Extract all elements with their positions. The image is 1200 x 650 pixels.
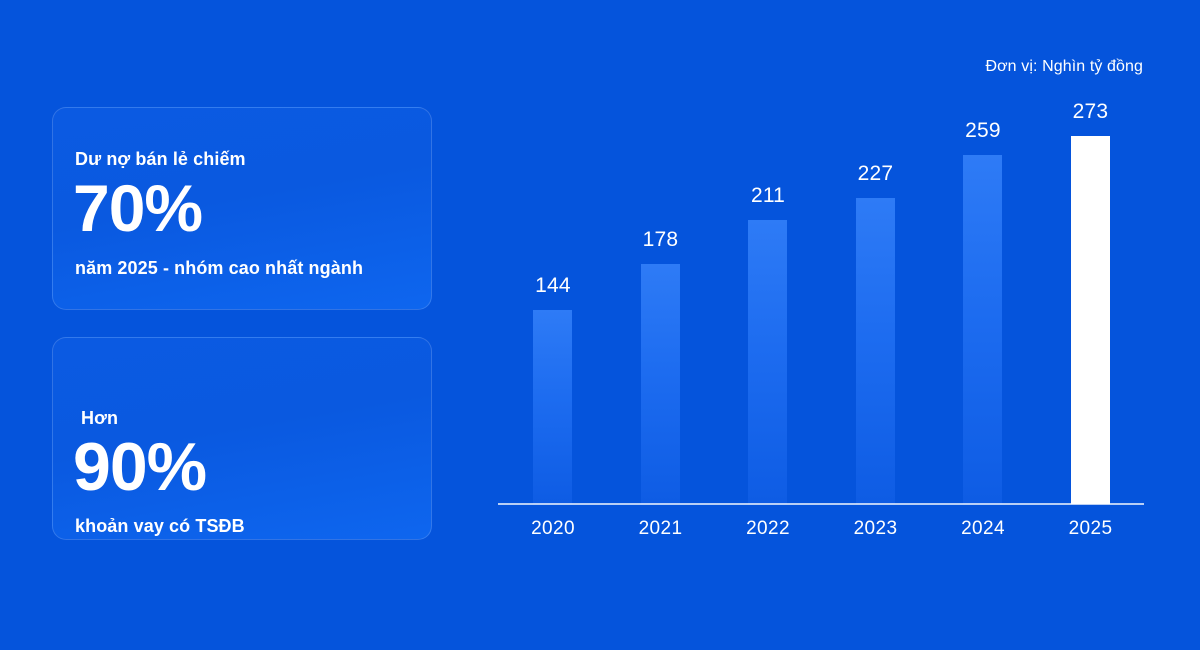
stat-card-content: Dư nợ bán lẻ chiếm 70% năm 2025 - nhóm c… — [53, 108, 431, 309]
bar-value-label-2023: 227 — [821, 162, 931, 186]
x-axis-label-2024: 2024 — [928, 518, 1038, 540]
bar-slot: 211 — [713, 100, 823, 504]
infographic-canvas: Đơn vị: Nghìn tỷ đồng Dư nợ bán lẻ chiếm… — [0, 0, 1200, 650]
chart-x-axis-line — [498, 503, 1144, 505]
bar-slot: 178 — [606, 100, 716, 504]
stat-card-bottom-label: khoản vay có TSĐB — [75, 516, 245, 537]
bar-2025[interactable] — [1071, 136, 1110, 504]
stat-card-value: 90% — [73, 433, 206, 501]
bar-value-label-2020: 144 — [498, 274, 608, 298]
stat-card-group: Dư nợ bán lẻ chiếm 70% năm 2025 - nhóm c… — [52, 107, 432, 540]
bar-2023[interactable] — [856, 198, 895, 504]
x-axis-label-2020: 2020 — [498, 518, 608, 540]
stat-card-value: 70% — [73, 175, 202, 241]
stat-card-content: Hơn 90% khoản vay có TSĐB — [53, 338, 431, 539]
bar-value-label-2024: 259 — [928, 119, 1038, 143]
x-axis-label-2023: 2023 — [821, 518, 931, 540]
bar-slot: 259 — [928, 100, 1038, 504]
stat-card-top-label: Dư nợ bán lẻ chiếm — [75, 149, 246, 170]
x-axis-label-2022: 2022 — [713, 518, 823, 540]
bar-value-label-2025: 273 — [1036, 100, 1146, 124]
x-axis-label-2021: 2021 — [606, 518, 716, 540]
bar-slot: 273 — [1036, 100, 1146, 504]
bar-value-label-2021: 178 — [606, 228, 716, 252]
bar-chart: 144178211227259273 202020212022202320242… — [498, 100, 1144, 555]
bar-2020[interactable] — [533, 310, 572, 504]
chart-plot-area: 144178211227259273 — [498, 100, 1144, 504]
bar-value-label-2022: 211 — [713, 184, 823, 208]
bar-slot: 144 — [498, 100, 608, 504]
chart-unit-note: Đơn vị: Nghìn tỷ đồng — [985, 58, 1143, 76]
bar-2024[interactable] — [963, 155, 1002, 504]
stat-card-bottom-label: năm 2025 - nhóm cao nhất ngành — [75, 258, 363, 279]
stat-card-top-label: Hơn — [81, 408, 118, 429]
stat-card-retail-share: Dư nợ bán lẻ chiếm 70% năm 2025 - nhóm c… — [52, 107, 432, 310]
bar-2022[interactable] — [748, 220, 787, 504]
bar-slot: 227 — [821, 100, 931, 504]
stat-card-collateral-share: Hơn 90% khoản vay có TSĐB — [52, 337, 432, 540]
x-axis-label-2025: 2025 — [1036, 518, 1146, 540]
bar-2021[interactable] — [641, 264, 680, 504]
